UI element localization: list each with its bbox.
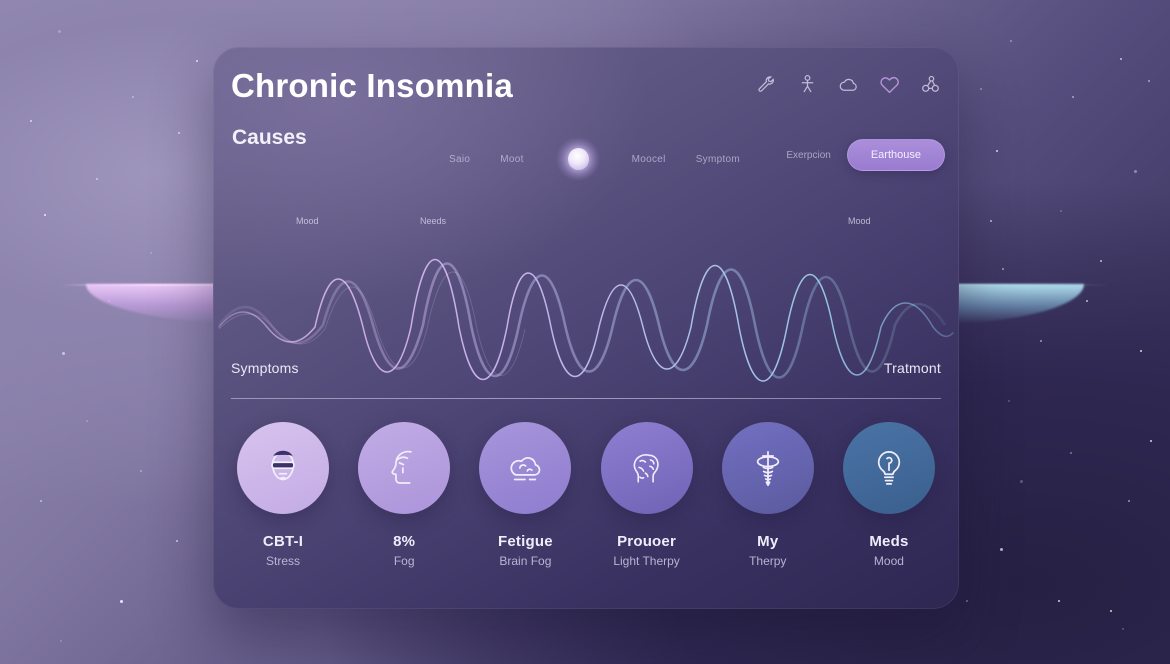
tile-row: CBT-I Stress 8% Fog Fetigue Brain Fog Pr…: [231, 422, 941, 568]
star-dot: [1070, 452, 1072, 454]
star-dot: [58, 30, 61, 33]
lightbulb-icon[interactable]: [843, 422, 935, 514]
nav-item-0[interactable]: Saio: [449, 154, 470, 165]
star-dot: [966, 600, 968, 602]
star-dot: [980, 88, 982, 90]
star-dot: [1060, 210, 1062, 212]
tile-subtitle: Therpy: [716, 554, 820, 568]
tile-item-3[interactable]: Prouoer Light Therpy: [595, 422, 699, 568]
nav-item-1[interactable]: Moot: [500, 154, 523, 165]
cloud-fog-icon[interactable]: [479, 422, 571, 514]
tile-title: My: [716, 533, 820, 550]
tile-subtitle: Fog: [352, 554, 456, 568]
tile-subtitle: Brain Fog: [473, 554, 577, 568]
tile-subtitle: Mood: [837, 554, 941, 568]
orb-core: [568, 148, 589, 170]
tile-subtitle: Light Therpy: [595, 554, 699, 568]
glow-orb[interactable]: [556, 137, 600, 181]
star-dot: [96, 178, 98, 180]
tile-title: 8%: [352, 533, 456, 550]
star-dot: [150, 252, 152, 254]
star-dot: [1086, 300, 1088, 302]
star-dot: [86, 420, 88, 422]
caduceus-icon[interactable]: [722, 422, 814, 514]
main-card: Chronic Insomnia Causes: [213, 47, 959, 609]
nav-group-right: Moocel Symptom: [632, 154, 740, 165]
star-dot: [1002, 268, 1004, 270]
wave-label-2: Mood: [848, 216, 871, 226]
star-dot: [1134, 170, 1137, 173]
star-dot: [1040, 340, 1042, 342]
brain-icon[interactable]: [601, 422, 693, 514]
star-dot: [1128, 500, 1130, 502]
section-header-row: Symptoms Tratmont: [231, 360, 941, 400]
star-dot: [1150, 440, 1152, 442]
tile-item-2[interactable]: Fetigue Brain Fog: [473, 422, 577, 568]
star-dot: [1148, 80, 1150, 82]
cloud-icon[interactable]: [837, 73, 860, 96]
tile-title: Fetigue: [473, 533, 577, 550]
heart-icon[interactable]: [878, 73, 901, 96]
heading-treatment: Tratmont: [884, 360, 941, 376]
heading-symptoms: Symptoms: [231, 360, 299, 376]
star-dot: [996, 150, 998, 152]
star-dot: [1020, 480, 1023, 483]
sleep-mask-face-icon[interactable]: [237, 422, 329, 514]
tile-subtitle: Stress: [231, 554, 335, 568]
star-dot: [30, 120, 32, 122]
tile-item-4[interactable]: My Therpy: [716, 422, 820, 568]
tile-title: Meds: [837, 533, 941, 550]
header-icon-row: [755, 73, 942, 96]
star-dot: [1122, 628, 1124, 630]
tile-item-1[interactable]: 8% Fog: [352, 422, 456, 568]
header-actions: Exerpcion Earthouse: [786, 139, 945, 171]
star-dot: [1010, 40, 1012, 42]
star-dot: [108, 300, 110, 302]
star-dot: [1120, 58, 1122, 60]
star-dot: [1000, 548, 1003, 551]
star-dot: [62, 352, 65, 355]
star-dot: [140, 470, 142, 472]
nav-group-left: Saio Moot: [449, 154, 524, 165]
section-label-causes: Causes: [232, 126, 307, 150]
star-dot: [1058, 600, 1060, 602]
center-nav: Saio Moot Moocel Symptom: [449, 142, 729, 176]
wrench-icon[interactable]: [755, 73, 778, 96]
wave-label-0: Mood: [296, 216, 319, 226]
star-dot: [990, 220, 992, 222]
star-dot: [40, 500, 42, 502]
star-dot: [1100, 260, 1102, 262]
tile-item-5[interactable]: Meds Mood: [837, 422, 941, 568]
head-profile-icon[interactable]: [358, 422, 450, 514]
nav-item-3[interactable]: Symptom: [696, 154, 740, 165]
header-link[interactable]: Exerpcion: [786, 150, 830, 161]
page-title: Chronic Insomnia: [231, 67, 513, 105]
molecule-icon[interactable]: [919, 73, 942, 96]
person-icon[interactable]: [796, 73, 819, 96]
star-dot: [196, 60, 198, 62]
section-divider: [231, 398, 941, 399]
star-dot: [1140, 350, 1142, 352]
star-dot: [1110, 610, 1112, 612]
star-dot: [176, 540, 178, 542]
star-dot: [120, 600, 123, 603]
star-dot: [178, 132, 180, 134]
star-dot: [44, 214, 46, 216]
cta-button[interactable]: Earthouse: [847, 139, 945, 171]
nav-item-2[interactable]: Moocel: [632, 154, 666, 165]
tile-title: Prouoer: [595, 533, 699, 550]
star-dot: [1008, 400, 1010, 402]
tile-title: CBT-I: [231, 533, 335, 550]
wave-label-1: Needs: [420, 216, 446, 226]
star-dot: [60, 640, 62, 642]
tile-item-0[interactable]: CBT-I Stress: [231, 422, 335, 568]
star-dot: [1072, 96, 1074, 98]
star-dot: [132, 96, 134, 98]
